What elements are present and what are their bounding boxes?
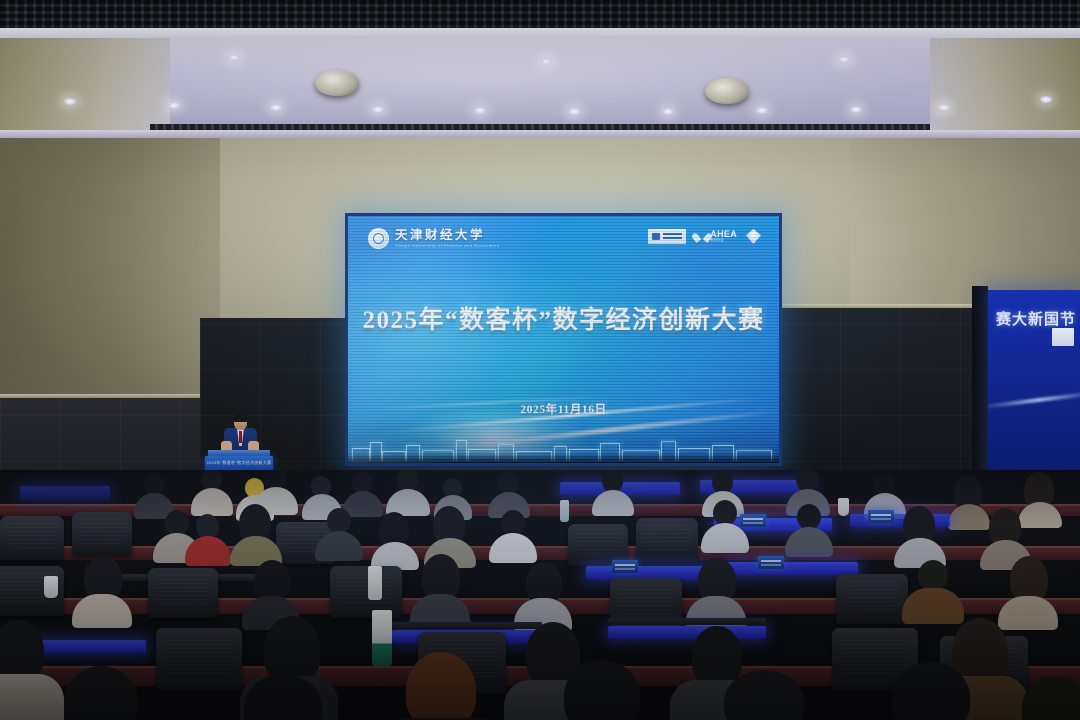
- university-logo: 天津财经大学 Tianjin University of Finance and…: [368, 228, 499, 249]
- desk-nameplate: [612, 560, 638, 573]
- ahea-sublabel: 教育协会: [710, 239, 737, 242]
- desk-led-strip: [608, 626, 766, 639]
- university-seal-icon: [368, 228, 389, 249]
- conference-hall-photo: 天津财经大学 Tianjin University of Finance and…: [0, 0, 1080, 720]
- audience-chair: [836, 574, 908, 624]
- speaker-tie: [239, 431, 242, 443]
- heart-icon: [695, 230, 708, 242]
- desk-nameplate: [758, 556, 784, 569]
- ahea-heart-logo-icon: AHEA 教育协会: [695, 230, 737, 242]
- presentation-title: 2025年“数客杯”数字经济创新大赛: [348, 300, 779, 336]
- desk-nameplate: [740, 514, 766, 527]
- downlight-icon: [168, 102, 180, 109]
- water-bottle: [560, 500, 569, 522]
- downlight-icon: [850, 106, 862, 113]
- downlight-icon: [662, 108, 674, 115]
- audience-seating-area: [0, 470, 1080, 720]
- podium-front-text: 2025年“数客杯”数字经济创新大赛: [205, 460, 273, 466]
- drink-cup: [838, 498, 849, 516]
- banner-support-post: [972, 286, 988, 486]
- person-hair: [692, 626, 742, 686]
- downlight-icon: [372, 106, 384, 113]
- thermos-bottle: [372, 610, 392, 666]
- downlight-icon: [474, 107, 486, 114]
- ceiling-right-bevel: [930, 38, 1080, 130]
- downlight-icon: [540, 58, 552, 65]
- downlight-icon: [270, 104, 282, 111]
- person-shoulders: [902, 588, 964, 624]
- person-shoulders: [191, 488, 233, 516]
- ceiling-speaker-dome: [705, 78, 749, 104]
- desk-surface: [608, 618, 766, 625]
- partner-card-logo-icon: [648, 229, 686, 244]
- led-stage-screen: 天津财经大学 Tianjin University of Finance and…: [345, 213, 782, 466]
- person-shoulders: [489, 533, 537, 563]
- downlight-icon: [938, 104, 950, 111]
- audience-chair: [156, 628, 242, 690]
- side-led-banner: 赛大新国节: [988, 290, 1080, 475]
- downlight-icon: [228, 54, 240, 61]
- university-name-en: Tianjin University of Finance and Econom…: [395, 244, 499, 248]
- screen-logo-row: 天津财经大学 Tianjin University of Finance and…: [348, 228, 779, 258]
- audience-chair: [636, 518, 698, 562]
- downlight-icon: [756, 107, 768, 114]
- ceiling-speaker-dome: [315, 70, 359, 96]
- speaker-hair: [233, 414, 248, 422]
- downlight-icon: [1040, 96, 1052, 103]
- person-hair: [406, 652, 476, 720]
- person-hair: [264, 616, 320, 684]
- thermos-bottle: [368, 566, 382, 600]
- desk-led-strip: [20, 486, 110, 499]
- screen-bottom-shadow: [348, 453, 779, 463]
- person-shoulders: [785, 527, 833, 557]
- downlight-icon: [568, 108, 580, 115]
- desk-led-strip: [726, 562, 858, 575]
- person-shoulders: [0, 674, 64, 720]
- diamond-logo-icon: [746, 229, 761, 244]
- downlight-icon: [64, 98, 76, 105]
- side-banner-text: 赛大新国节: [996, 308, 1076, 329]
- audience-chair: [72, 512, 132, 556]
- side-banner-card-graphic: [1052, 328, 1074, 346]
- partner-logo-group: AHEA 教育协会: [648, 229, 761, 244]
- audience-chair: [0, 516, 64, 560]
- ceiling-left-bevel: [0, 38, 170, 130]
- desk-nameplate: [868, 510, 894, 523]
- side-banner-streak: [988, 391, 1080, 410]
- person-hair: [0, 620, 44, 682]
- drink-cup: [44, 576, 58, 598]
- desk-led-strip: [850, 514, 950, 527]
- desk-surface: [392, 622, 542, 629]
- university-name-cn: 天津财经大学: [395, 229, 499, 242]
- downlight-icon: [838, 56, 850, 63]
- audience-chair: [148, 568, 218, 618]
